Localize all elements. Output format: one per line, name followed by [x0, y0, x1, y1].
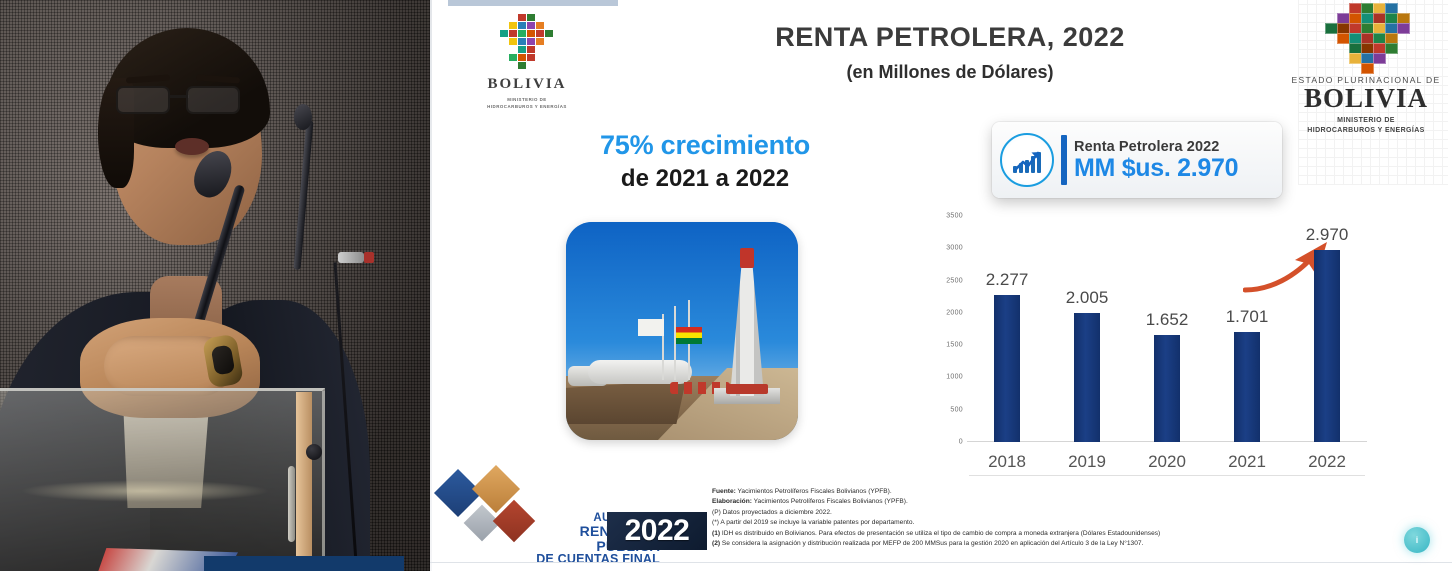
- info-badge-label: i: [1416, 535, 1419, 545]
- chart-footnotes: Fuente: Yacimientos Petrolíferos Fiscale…: [712, 487, 1352, 549]
- info-badge[interactable]: i: [1404, 527, 1430, 553]
- eyeglasses-icon: [112, 86, 252, 112]
- chart-y-tick: 500: [927, 406, 963, 413]
- chart-bar: 2.277: [971, 295, 1043, 442]
- wiphala-pixel-logo-icon: [496, 12, 558, 74]
- chart-y-tick: 3500: [927, 213, 963, 220]
- brand-year-box: 2022: [607, 512, 707, 550]
- speaker-mouth: [175, 138, 209, 155]
- live-speaker-video[interactable]: [0, 0, 430, 571]
- chart-bar: 1.701: [1211, 332, 1283, 442]
- chart-y-tick: 3000: [927, 245, 963, 252]
- chart-bottom-rule: [969, 475, 1365, 477]
- stage-navy-band: [204, 556, 404, 571]
- footnote-line: (P) Datos proyectados a diciembre 2022.: [712, 508, 1352, 518]
- brand-line-3: DE CUENTAS FINAL: [515, 553, 660, 566]
- logo-right-line3a: MINISTERIO DE: [1290, 116, 1442, 126]
- footnote-line: Fuente: Yacimientos Petrolíferos Fiscale…: [712, 487, 1352, 497]
- logo-right-line3b: HIDROCARBUROS Y ENERGÍAS: [1290, 126, 1442, 136]
- chart-bar-rect: [1074, 313, 1100, 442]
- chart-y-tick: 0: [927, 439, 963, 446]
- callout-value: MM $us. 2.970: [1074, 155, 1274, 181]
- screen: BOLIVIA MINISTERIO DE HIDROCARBUROS Y EN…: [0, 0, 1452, 571]
- drilling-rig-photo: [566, 222, 798, 440]
- photo-flag-white: [638, 319, 664, 336]
- eyeglasses-bridge: [169, 95, 189, 98]
- footnote-line: Elaboración: Yacimientos Petrolíferos Fi…: [712, 497, 1352, 507]
- chart-bar-rect: [994, 295, 1020, 442]
- logo-left-subtitle-1: MINISTERIO DE: [472, 96, 582, 103]
- photo-rig-red-equipment: [726, 384, 768, 394]
- growth-period: de 2021 a 2022: [540, 165, 870, 193]
- logo-left-name: BOLIVIA: [472, 76, 582, 93]
- growth-headline: 75% crecimiento: [540, 130, 870, 161]
- chart-bar-value-label: 1.652: [1146, 310, 1189, 330]
- renta-petrolera-bar-chart: 05001000150020002500300035002.2772.0051.…: [925, 212, 1375, 480]
- growth-chart-icon: [1000, 133, 1054, 187]
- chart-bar-value-label: 2.005: [1066, 288, 1109, 308]
- chart-bar-value-label: 2.277: [986, 270, 1029, 290]
- chart-x-tick-label: 2018: [971, 452, 1043, 472]
- secondary-microphone-head: [294, 104, 312, 130]
- slide-top-accent-bar: [448, 0, 618, 6]
- chart-bar: 2.970: [1291, 250, 1363, 442]
- chart-bar-value-label: 2.970: [1306, 225, 1349, 245]
- footnote-line: (*) A partir del 2019 se incluye la vari…: [712, 518, 1352, 528]
- podium-reflection: [20, 480, 270, 502]
- chart-bar-value-label: 1.701: [1226, 307, 1269, 327]
- photo-flag-bolivia: [676, 327, 702, 344]
- slide-left-rule: [430, 0, 432, 571]
- cable-connector: [338, 252, 364, 263]
- callout-accent-bar: [1061, 135, 1067, 185]
- footnote-line: (1) IDH es distribuido en Bolivianos. Pa…: [712, 529, 1352, 539]
- slide-bottom-rule: [430, 562, 1452, 563]
- chart-x-tick-label: 2022: [1291, 452, 1363, 472]
- state-logo-right: ESTADO PLURINACIONAL DE BOLIVIA MINISTER…: [1290, 2, 1442, 136]
- chart-x-tick-label: 2019: [1051, 452, 1123, 472]
- chart-plot-area: 05001000150020002500300035002.2772.0051.…: [967, 216, 1367, 442]
- ministry-logo-left: BOLIVIA MINISTERIO DE HIDROCARBUROS Y EN…: [472, 12, 582, 111]
- logo-right-line2: BOLIVIA: [1290, 85, 1442, 112]
- renta-petrolera-callout[interactable]: Renta Petrolera 2022 MM $us. 2.970: [992, 122, 1282, 198]
- logo-left-subtitle-2: HIDROCARBUROS Y ENERGÍAS: [472, 103, 582, 110]
- chart-icon-arrow: [1013, 150, 1041, 172]
- chart-x-tick-label: 2020: [1131, 452, 1203, 472]
- chart-y-tick: 2000: [927, 309, 963, 316]
- event-brand-lockup: AUDIENCIA RENDICIÓN PÚBLICA DE CUENTAS F…: [435, 470, 710, 570]
- cable-connector-red: [364, 252, 374, 263]
- slide-title: RENTA PETROLERA, 2022: [760, 22, 1140, 53]
- chart-bar-rect: [1154, 335, 1180, 442]
- chart-y-tick: 2500: [927, 277, 963, 284]
- photo-rig-crown: [740, 248, 754, 268]
- podium-rail: [288, 466, 295, 542]
- podium-wood-edge: [296, 392, 312, 571]
- chart-x-tick-label: 2021: [1211, 452, 1283, 472]
- chart-bar-rect: [1314, 250, 1340, 442]
- podium-knob: [306, 444, 322, 460]
- chart-bar-rect: [1234, 332, 1260, 442]
- photo-storage-tank: [588, 360, 692, 384]
- chart-bar: 2.005: [1051, 313, 1123, 442]
- callout-title: Renta Petrolera 2022: [1074, 139, 1274, 155]
- slide-subtitle: (en Millones de Dólares): [760, 62, 1140, 83]
- footnote-line: (2) Se considera la asignación y distrib…: [712, 539, 1352, 549]
- growth-callout-text: 75% crecimiento de 2021 a 2022: [540, 130, 870, 193]
- brand-year: 2022: [625, 514, 690, 548]
- presentation-slide: BOLIVIA MINISTERIO DE HIDROCARBUROS Y EN…: [430, 0, 1452, 571]
- chart-y-tick: 1500: [927, 342, 963, 349]
- chart-bar: 1.652: [1131, 335, 1203, 442]
- chart-y-tick: 1000: [927, 374, 963, 381]
- bolivia-map-pixel-icon: [1311, 2, 1421, 74]
